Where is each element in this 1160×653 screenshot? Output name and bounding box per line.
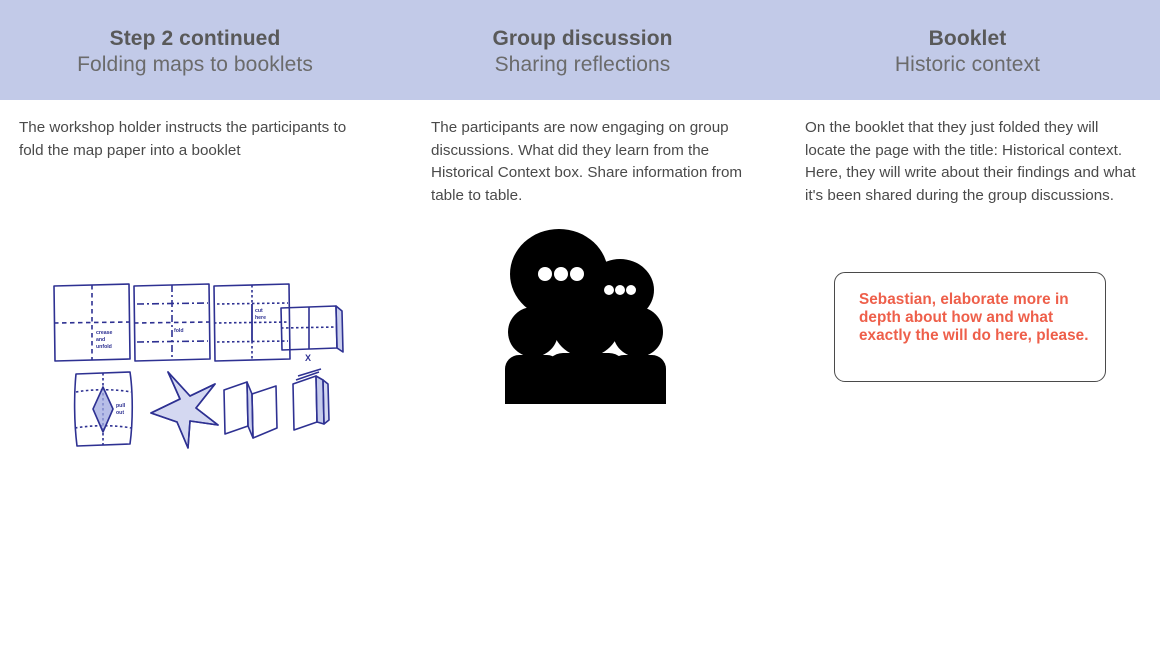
fold-step-1: crease and unfold — [54, 284, 130, 361]
header-title: Step 2 continued — [110, 26, 281, 52]
person-center — [546, 289, 626, 404]
svg-text:X: X — [305, 353, 311, 363]
column-booklet: Booklet Historic context On the booklet … — [775, 0, 1160, 653]
svg-text:and: and — [96, 337, 105, 343]
column-group-discussion: Group discussion Sharing reflections The… — [390, 0, 775, 653]
svg-text:unfold: unfold — [96, 344, 112, 350]
comment-callout-text: Sebastian, elaborate more in depth about… — [859, 291, 1089, 345]
comment-callout[interactable]: Sebastian, elaborate more in depth about… — [834, 272, 1106, 382]
header-subtitle: Folding maps to booklets — [77, 52, 313, 78]
svg-text:fold: fold — [174, 328, 184, 334]
fold-step-3: cut here — [214, 284, 290, 361]
svg-text:out: out — [116, 410, 124, 416]
svg-text:here: here — [255, 315, 266, 321]
fold-step-2: fold — [134, 284, 210, 361]
header-title: Booklet — [929, 26, 1007, 52]
header-subtitle: Sharing reflections — [495, 52, 671, 78]
header-subtitle: Historic context — [895, 52, 1040, 78]
body-text-step-2-continued: The workshop holder instructs the partic… — [0, 100, 390, 162]
svg-text:crease: crease — [96, 330, 113, 336]
svg-text:cut: cut — [255, 308, 263, 314]
group-discussion-icon — [485, 212, 690, 412]
svg-text:pull: pull — [116, 403, 126, 409]
column-header-step-2-continued: Step 2 continued Folding maps to booklet… — [0, 0, 390, 100]
fold-step-7 — [224, 382, 277, 438]
column-step-2-continued: Step 2 continued Folding maps to booklet… — [0, 0, 390, 653]
column-header-booklet: Booklet Historic context — [775, 0, 1160, 100]
body-text-booklet: On the booklet that they just folded the… — [775, 100, 1160, 208]
map-folding-diagram: crease and unfold fold — [40, 262, 360, 462]
body-text-group-discussion: The participants are now engaging on gro… — [390, 100, 775, 208]
header-title: Group discussion — [492, 26, 672, 52]
fold-step-5: pull out — [75, 372, 133, 446]
fold-step-8 — [293, 369, 329, 430]
column-header-group-discussion: Group discussion Sharing reflections — [390, 0, 775, 100]
workshop-board: Step 2 continued Folding maps to booklet… — [0, 0, 1160, 653]
fold-step-6 — [151, 372, 218, 448]
